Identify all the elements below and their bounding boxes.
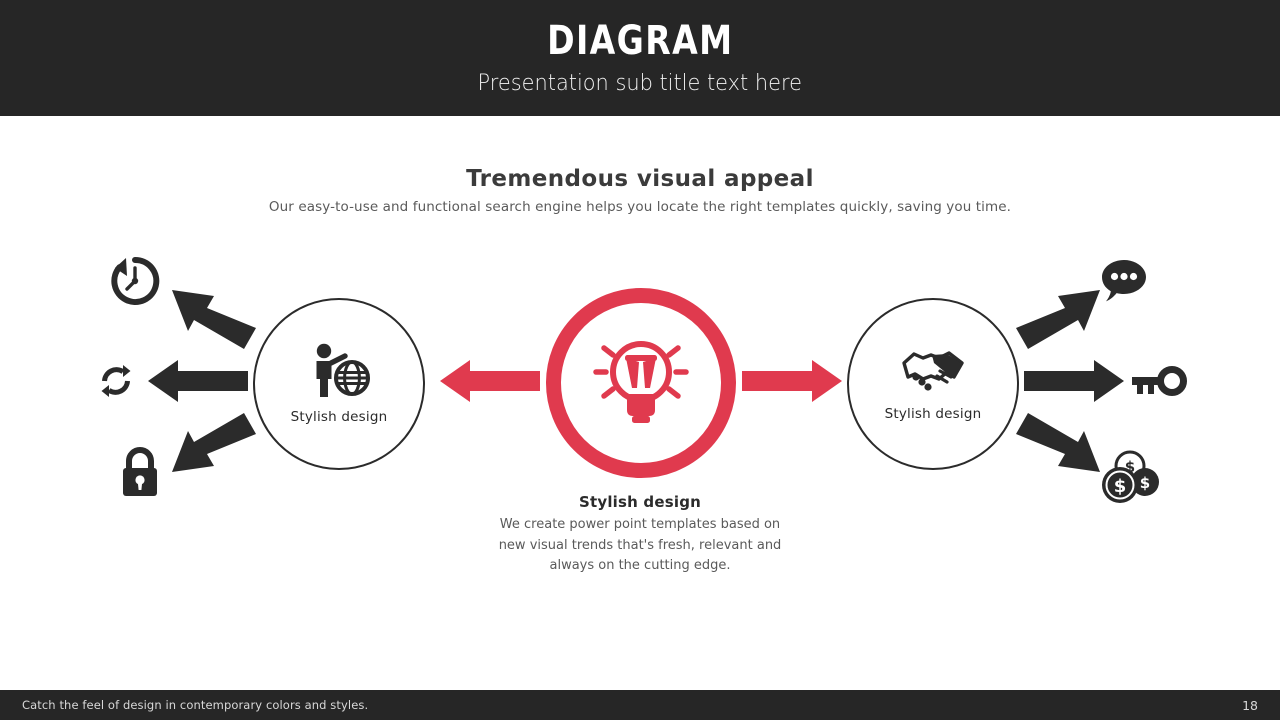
node-right-label: Stylish design	[885, 406, 982, 422]
arrow-center-to-left	[440, 360, 540, 402]
clock-history-icon	[114, 258, 156, 302]
padlock-icon	[123, 450, 157, 496]
arrow-right-lower	[1016, 413, 1100, 472]
dollar-coins-icon: $ $ $	[1102, 452, 1159, 503]
svg-text:$: $	[1140, 474, 1150, 492]
node-left-label: Stylish design	[291, 409, 388, 425]
refresh-cycle-icon	[102, 365, 131, 397]
hub-caption: Stylish design We create power point tem…	[490, 493, 790, 577]
node-left[interactable]: Stylish design	[253, 298, 425, 470]
hub-caption-title: Stylish design	[490, 493, 790, 511]
diagram-stage: $ $ $ Stylish design Stylish d	[0, 0, 1280, 720]
footer-page-number: 18	[1242, 698, 1258, 713]
hub-center[interactable]	[546, 288, 736, 478]
svg-text:$: $	[1114, 476, 1127, 497]
arrow-right-upper	[1016, 290, 1100, 349]
arrow-left-middle	[148, 360, 248, 402]
arrow-left-lower	[172, 413, 256, 472]
footer-tagline: Catch the feel of design in contemporary…	[22, 698, 368, 712]
presenter-globe-icon	[307, 343, 371, 401]
chat-bubble-icon	[1102, 260, 1146, 301]
arrow-right-middle	[1024, 360, 1124, 402]
lightbulb-icon	[582, 324, 700, 442]
slide-footer: Catch the feel of design in contemporary…	[0, 690, 1280, 720]
hub-caption-body: We create power point templates based on…	[490, 515, 790, 577]
key-icon	[1132, 370, 1184, 395]
arrow-left-upper	[172, 290, 256, 349]
node-right[interactable]: Stylish design	[847, 298, 1019, 470]
handshake-icon	[901, 346, 965, 398]
arrow-center-to-right	[742, 360, 842, 402]
